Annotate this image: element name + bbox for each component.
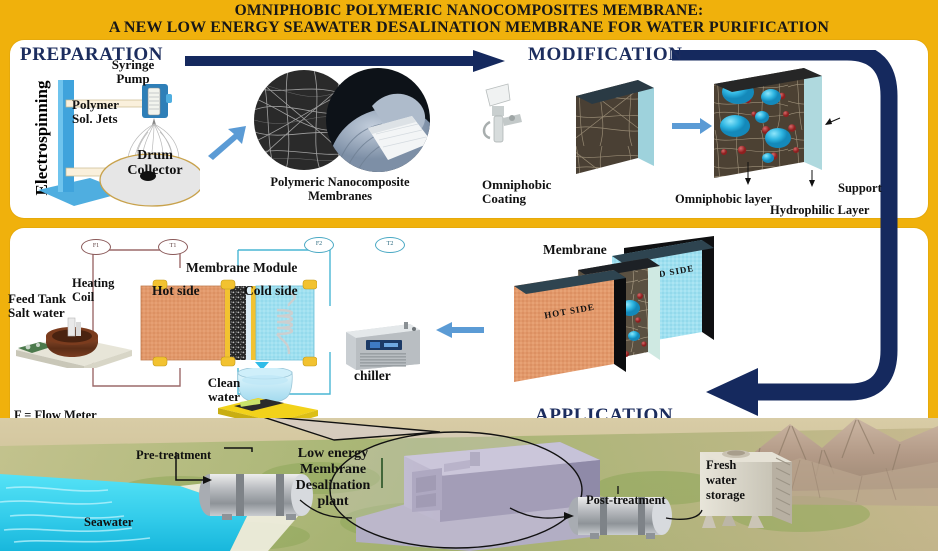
desalination-plant: [356, 442, 600, 551]
drum-collector-label: Drum Collector: [105, 148, 205, 178]
chiller-label: chiller: [354, 368, 391, 384]
omniphobic-coating-label: Omniphobic Coating: [482, 178, 592, 206]
desalination-landscape: [0, 418, 938, 551]
support-label: Support: [838, 181, 882, 196]
clean-water-label: Clean water: [200, 376, 248, 404]
gauge-t2: T2: [375, 237, 405, 253]
title-line-2: A NEW LOW ENERGY SEAWATER DESALINATION M…: [0, 19, 938, 36]
post-treatment-label: Post-treatment: [586, 493, 666, 508]
hot-side-label: Hot side: [152, 283, 200, 299]
gauge-f1: F1: [81, 239, 111, 255]
seawater-label: Seawater: [84, 515, 133, 530]
syringe-pump-label: Syringe Pump: [88, 58, 178, 86]
electrospinning-label: Electrospinning: [32, 68, 52, 208]
membrane-module-label: Membrane Module: [186, 260, 297, 276]
title-line-1: OMNIPHOBIC POLYMERIC NANOCOMPOSITES MEMB…: [235, 2, 704, 19]
experiment-panel: [10, 228, 928, 445]
cold-side-label: Cold side: [244, 283, 298, 299]
polymer-solution-jets-label: Polymer Sol. Jets: [72, 98, 162, 126]
gauge-f2: F2: [304, 237, 334, 253]
desalination-plant-label: Low energy Membrane Desalination plant: [278, 446, 388, 510]
heating-coil-label: Heating Coil: [72, 277, 134, 304]
page-title: OMNIPHOBIC POLYMERIC NANOCOMPOSITES MEMB…: [0, 2, 938, 36]
hydrophilic-layer-label: Hydrophilic Layer: [770, 203, 869, 218]
graphical-abstract: OMNIPHOBIC POLYMERIC NANOCOMPOSITES MEMB…: [0, 0, 938, 551]
membrane-3d-caption: Membrane: [543, 242, 607, 258]
polymeric-nanocomposite-caption: Polymeric Nanocomposite Membranes: [240, 176, 440, 203]
pre-treatment-label: Pre-treatment: [136, 448, 211, 463]
section-heading-modification: MODIFICATION: [528, 44, 683, 66]
fresh-water-storage-label: Fresh water storage: [706, 458, 762, 503]
application-scene: [0, 418, 938, 551]
omniphobic-layer-label: Omniphobic layer: [675, 192, 772, 207]
gauge-t1: T1: [158, 239, 188, 255]
